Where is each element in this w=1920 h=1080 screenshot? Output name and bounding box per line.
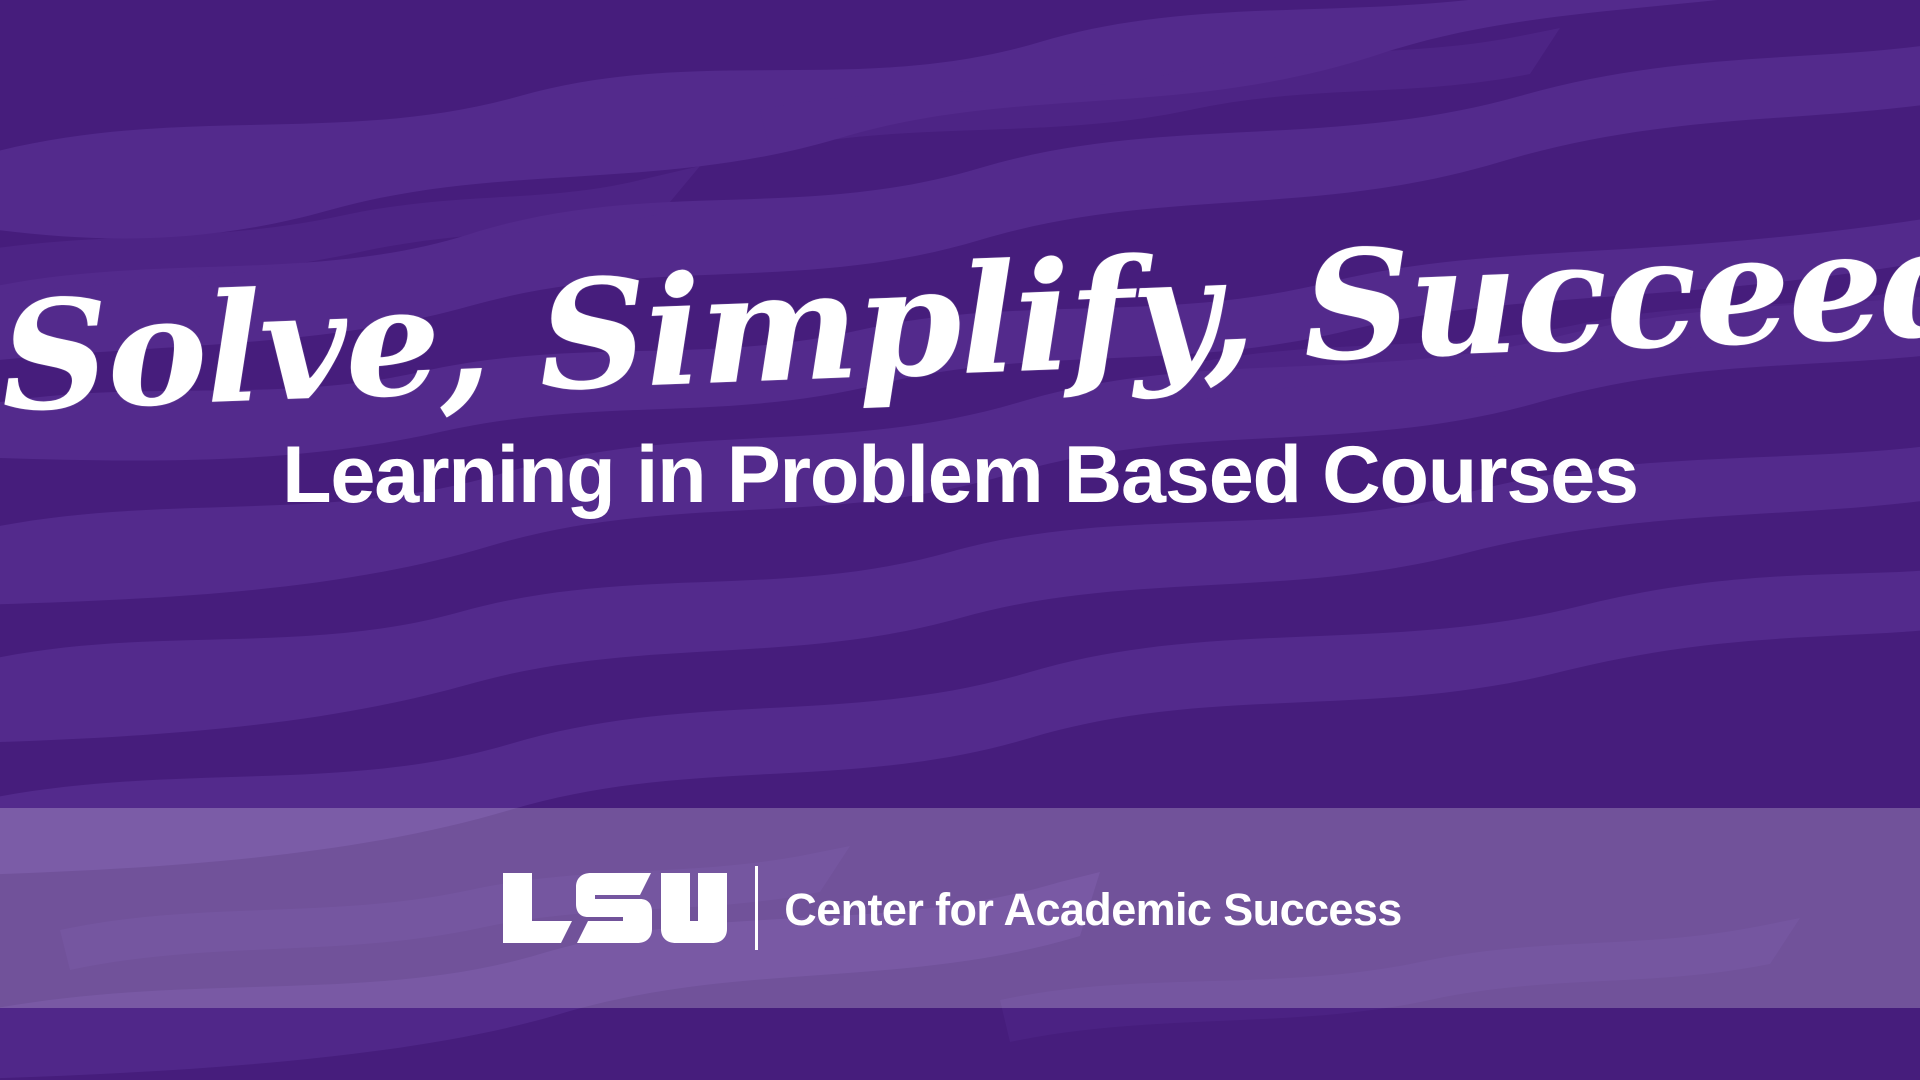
lsu-wordmark-logo xyxy=(502,873,728,943)
lsu-lockup: Center for Academic Success xyxy=(502,866,1401,950)
footer-lockup-band: Center for Academic Success xyxy=(0,808,1920,1008)
vertical-divider-icon xyxy=(755,866,758,950)
unit-name-label: Center for Academic Success xyxy=(784,887,1401,932)
title-slide: Solve, Simplify, Succeed: Learning in Pr… xyxy=(0,0,1920,1080)
slide-subtitle: Learning in Problem Based Courses xyxy=(0,425,1920,525)
